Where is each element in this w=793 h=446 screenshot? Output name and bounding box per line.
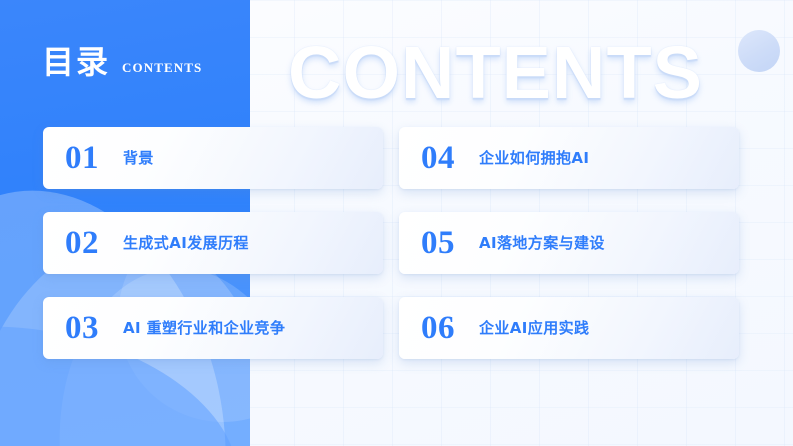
contents-item-02[interactable]: 02 生成式AI发展历程 (43, 212, 383, 274)
item-number: 02 (65, 227, 123, 260)
item-label: AI落地方案与建设 (479, 236, 605, 251)
contents-slide: CONTENTS 目录 CONTENTS 01 背景 02 生成式AI发展历程 … (0, 0, 793, 446)
item-number: 03 (65, 312, 123, 345)
item-number: 06 (421, 312, 479, 345)
item-number: 04 (421, 142, 479, 175)
page-title-en: CONTENTS (122, 61, 202, 74)
item-label: 企业如何拥抱AI (479, 151, 589, 166)
contents-item-06[interactable]: 06 企业AI应用实践 (399, 297, 739, 359)
item-number: 01 (65, 142, 123, 175)
item-label: 背景 (123, 151, 154, 166)
page-title: 目录 CONTENTS (42, 46, 202, 78)
contents-item-01[interactable]: 01 背景 (43, 127, 383, 189)
page-title-cn: 目录 (42, 46, 110, 78)
item-label: AI 重塑行业和企业竞争 (123, 321, 285, 336)
item-label: 生成式AI发展历程 (123, 236, 249, 251)
contents-item-04[interactable]: 04 企业如何拥抱AI (399, 127, 739, 189)
contents-item-03[interactable]: 03 AI 重塑行业和企业竞争 (43, 297, 383, 359)
item-label: 企业AI应用实践 (479, 321, 589, 336)
contents-item-05[interactable]: 05 AI落地方案与建设 (399, 212, 739, 274)
item-number: 05 (421, 227, 479, 260)
